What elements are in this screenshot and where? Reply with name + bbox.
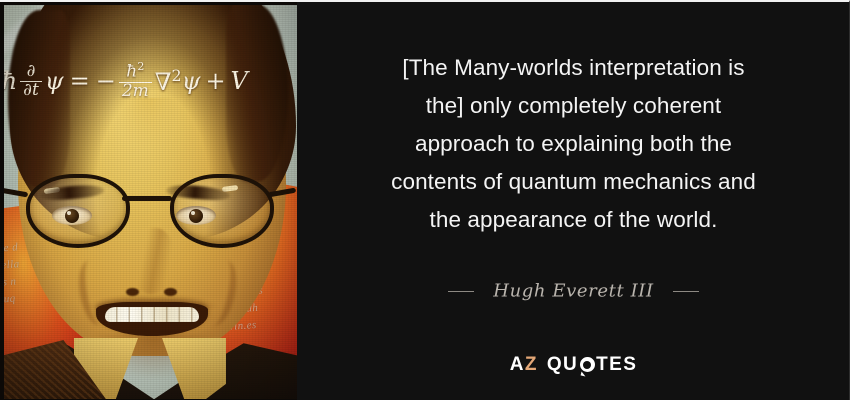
author-portrait-image: te d ella s n uq ilities V(r) . abilitie…: [0, 2, 297, 400]
equation-hbar-exponent: 2: [137, 60, 144, 73]
equation-partial-denominator: ∂t: [20, 82, 42, 100]
attribution-author-name[interactable]: Hugh Everett III: [493, 281, 653, 302]
equation-potential-v: V: [231, 69, 248, 93]
quote-text-panel: [The Many-worlds interpretation is the] …: [297, 2, 850, 400]
equation-hbar-glyph: ħ: [126, 62, 137, 82]
attribution-rule-left: [448, 291, 474, 292]
equation-hbar: ħ: [2, 69, 17, 93]
quote-line: the appearance of the world.: [430, 207, 718, 232]
equation-equals: =: [70, 69, 90, 93]
equation-psi-first: ψ: [45, 69, 64, 93]
logo-quotes-suffix: TES: [596, 354, 637, 375]
azquotes-logo[interactable]: AZQUTES: [297, 354, 850, 376]
equation-psi-second: ψ: [182, 69, 201, 93]
eye-left: [52, 206, 92, 225]
schrodinger-equation-overlay: i ħ ∂ ∂t ψ = − ħ2 2m ∇2 ψ + V: [0, 48, 297, 114]
equation-plus: +: [205, 69, 225, 93]
attribution-rule-right: [673, 291, 699, 292]
teeth: [105, 307, 199, 322]
quote-attribution: Hugh Everett III: [297, 280, 850, 302]
logo-letter-z: Z: [525, 354, 538, 375]
equation-hbar-squared: ħ2: [119, 61, 152, 83]
logo-quotes-prefix: QU: [547, 354, 578, 375]
quote-line: the] only completely coherent: [426, 93, 722, 118]
pupil-left: [65, 209, 79, 223]
quote-line: contents of quantum mechanics and: [391, 169, 756, 194]
quote-line: [The Many-worlds interpretation is: [402, 55, 744, 80]
eyeglass-bridge: [122, 196, 172, 201]
equation-nabla-glyph: ∇: [155, 68, 172, 96]
equation-partial-numerator: ∂: [20, 63, 42, 82]
eye-right: [176, 206, 216, 225]
equation-nabla-exponent: 2: [172, 66, 182, 85]
equation-hbar-squared-over-2m: ħ2 2m: [119, 61, 152, 100]
quote-body-text: [The Many-worlds interpretation is the] …: [327, 49, 820, 239]
equation-nabla: ∇2: [155, 68, 182, 94]
quote-line: approach to explaining both the: [415, 131, 732, 156]
pupil-right: [189, 209, 203, 223]
logo-letter-a: A: [510, 354, 525, 375]
quote-card: te d ella s n uq ilities V(r) . abilitie…: [0, 0, 850, 400]
speech-bubble-icon: [580, 357, 595, 372]
equation-minus: −: [96, 69, 116, 93]
equation-time-derivative: ∂ ∂t: [20, 63, 42, 100]
equation-two-m: 2m: [119, 83, 152, 101]
